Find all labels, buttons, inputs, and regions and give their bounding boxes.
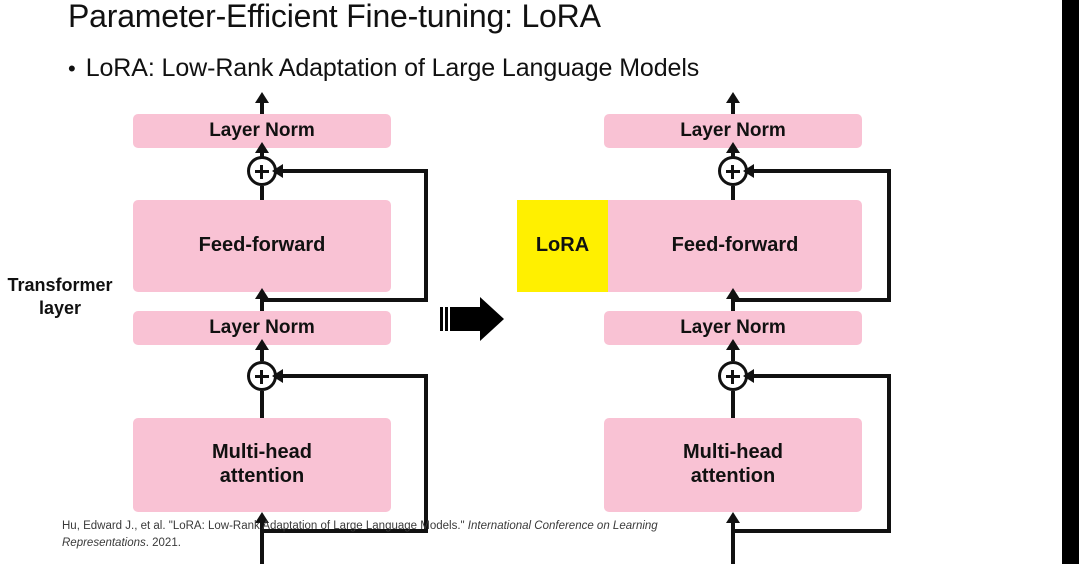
block-label: LoRA (536, 234, 589, 258)
block-label: Feed-forward (672, 234, 799, 258)
right-arrowhead-ln-bottom-icon (726, 339, 740, 350)
transformer-layer-label: Transformer layer (0, 274, 120, 319)
block-label: Layer Norm (680, 120, 786, 142)
right-arrow-icon (440, 296, 506, 342)
right-residual-top-horizontal (748, 169, 891, 173)
right-black-bar (1062, 0, 1079, 564)
right-residual-top-arrowhead-icon (743, 164, 754, 178)
left-arrowhead-ln-bottom-icon (255, 339, 269, 350)
left-residual-top-vertical (424, 169, 428, 302)
right-residual-bottom-horizontal (748, 374, 891, 378)
citation-part1: Hu, Edward J., et al. "LoRA: Low-Rank Ad… (62, 520, 468, 532)
bullet-item: • LoRA: Low-Rank Adaptation of Large Lan… (68, 54, 699, 83)
block-label-line1: Multi-head (683, 441, 783, 465)
citation-part2: . 2021. (146, 537, 181, 549)
left-residual-bottom-vertical (424, 374, 428, 533)
left-feed-forward: Feed-forward (133, 200, 391, 292)
block-label: Layer Norm (209, 120, 315, 142)
bullet-marker-icon: • (68, 58, 76, 80)
transformer-layer-label-line1: Transformer (0, 274, 120, 297)
right-residual-bottom-vertical (887, 374, 891, 533)
right-residual-top-tap (731, 298, 891, 302)
page-title: Parameter-Efficient Fine-tuning: LoRA (68, 0, 601, 35)
right-output-arrowhead-icon (726, 92, 740, 103)
left-arrowhead-ln-top-icon (255, 142, 269, 153)
right-residual-bottom-arrowhead-icon (743, 369, 754, 383)
left-residual-top-tap (260, 298, 428, 302)
citation: Hu, Edward J., et al. "LoRA: Low-Rank Ad… (62, 518, 734, 551)
bullet-text: LoRA: Low-Rank Adaptation of Large Langu… (86, 54, 699, 83)
left-multi-head-attention: Multi-head attention (133, 418, 391, 512)
block-label-line1: Multi-head (212, 441, 312, 465)
right-wire-mha-to-add-bottom (731, 391, 735, 421)
right-feed-forward: Feed-forward (608, 200, 862, 292)
left-residual-bottom-arrowhead-icon (272, 369, 283, 383)
left-residual-bottom-horizontal (277, 374, 428, 378)
right-residual-bottom-tap (731, 529, 891, 533)
left-residual-top-horizontal (277, 169, 428, 173)
block-label: Feed-forward (199, 234, 326, 258)
right-lora-block: LoRA (517, 200, 608, 292)
right-residual-top-vertical (887, 169, 891, 302)
block-label: Layer Norm (680, 317, 786, 339)
right-arrowhead-ln-top-icon (726, 142, 740, 153)
block-label-line2: attention (220, 465, 304, 489)
right-multi-head-attention: Multi-head attention (604, 418, 862, 512)
left-residual-top-arrowhead-icon (272, 164, 283, 178)
block-label-line2: attention (691, 465, 775, 489)
block-label: Layer Norm (209, 317, 315, 339)
right-arrowhead-ff-icon (726, 288, 740, 299)
transformer-layer-label-line2: layer (0, 297, 120, 320)
slide-canvas: Parameter-Efficient Fine-tuning: LoRA • … (0, 0, 1079, 564)
left-arrowhead-ff-icon (255, 288, 269, 299)
left-wire-mha-to-add-bottom (260, 391, 264, 421)
left-output-arrowhead-icon (255, 92, 269, 103)
